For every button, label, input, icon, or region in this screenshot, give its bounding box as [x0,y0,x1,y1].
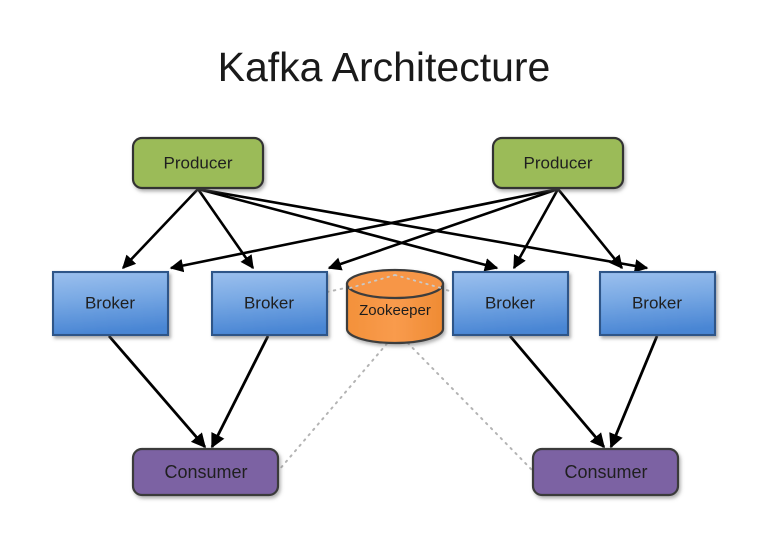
dotted-link-zookeeper-consumer-right [398,333,532,470]
arrow-broker-4-to-consumer-right [611,336,657,447]
arrow-producer-left-to-broker-1 [123,189,198,268]
arrow-broker-2-to-consumer-left [212,336,268,447]
node-broker-4[interactable]: Broker [600,272,715,335]
node-zookeeper[interactable]: Zookeeper [347,270,443,343]
broker-consumer-arrows [109,336,657,447]
zookeeper-label: Zookeeper [359,302,431,319]
kafka-architecture-diagram: Kafka Architecture [0,0,768,554]
consumer-left-label: Consumer [164,462,247,482]
node-broker-1[interactable]: Broker [53,272,168,335]
producer-right-label: Producer [524,153,593,172]
node-producer-right[interactable]: Producer [493,138,623,188]
broker-3-label: Broker [485,293,535,312]
arrow-producer-right-to-broker-4 [558,189,622,268]
node-broker-3[interactable]: Broker [453,272,568,335]
consumer-right-label: Consumer [564,462,647,482]
broker-2-label: Broker [244,293,294,312]
node-consumer-left[interactable]: Consumer [133,449,278,495]
node-broker-2[interactable]: Broker [212,272,327,335]
page-title: Kafka Architecture [218,44,551,90]
arrow-producer-left-to-broker-4 [198,189,647,268]
dotted-link-zookeeper-consumer-left [279,333,396,470]
arrow-producer-left-to-broker-3 [198,189,497,268]
producer-broker-arrows [123,189,647,268]
node-consumer-right[interactable]: Consumer [533,449,678,495]
arrow-broker-1-to-consumer-left [109,336,205,447]
broker-1-label: Broker [85,293,135,312]
arrow-broker-3-to-consumer-right [510,336,604,447]
diagram-canvas: Kafka Architecture [0,0,768,554]
broker-4-label: Broker [632,293,682,312]
node-producer-left[interactable]: Producer [133,138,263,188]
producer-left-label: Producer [164,153,233,172]
